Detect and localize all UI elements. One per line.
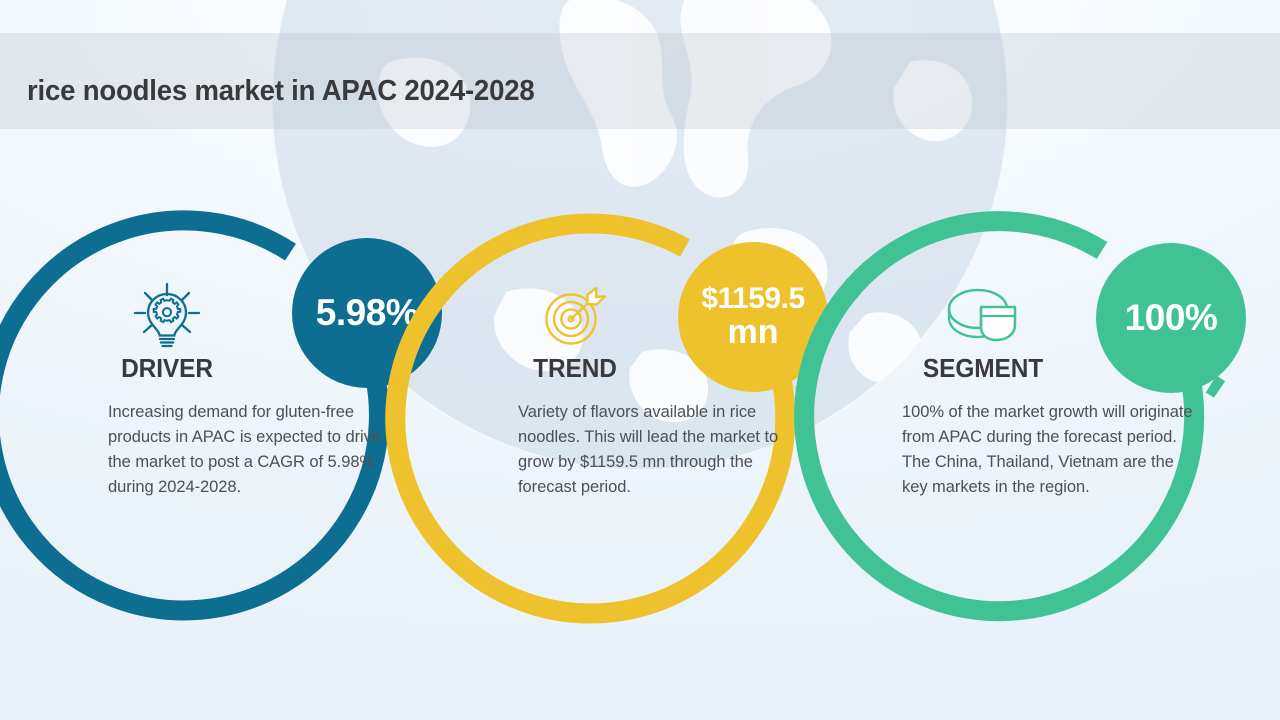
card-body-segment: 100% of the market growth will originate…	[902, 400, 1202, 500]
target-arrow-bullseye-icon	[540, 285, 610, 349]
pie-chart-segment-icon	[945, 287, 1021, 349]
card-body-driver: Increasing demand for gluten-free produc…	[108, 400, 408, 500]
badge-driver-value: 5.98%	[316, 294, 418, 332]
infographic-slide: rice noodles market in APAC 2024-2028	[0, 0, 1280, 720]
card-heading-trend: TREND	[439, 353, 712, 384]
icon-wrap-segment	[838, 287, 1128, 349]
card-heading-driver: DRIVER	[31, 353, 304, 384]
badge-segment-value: 100%	[1125, 299, 1218, 337]
card-segment: SEGMENT 100% of the market growth will o…	[838, 0, 1258, 720]
card-heading-segment: SEGMENT	[847, 353, 1120, 384]
badge-segment: 100%	[1096, 243, 1246, 393]
card-trend: TREND Variety of flavors available in ri…	[430, 0, 850, 720]
badge-trend-unit: mn	[728, 315, 779, 350]
card-body-trend: Variety of flavors available in rice noo…	[518, 400, 808, 500]
card-driver: DRIVER Increasing demand for gluten-free…	[22, 0, 442, 720]
badge-trend-value: $1159.5	[701, 284, 804, 315]
icon-wrap-driver	[22, 282, 312, 352]
icon-wrap-trend	[430, 285, 720, 349]
lightbulb-gear-idea-icon	[132, 282, 202, 352]
